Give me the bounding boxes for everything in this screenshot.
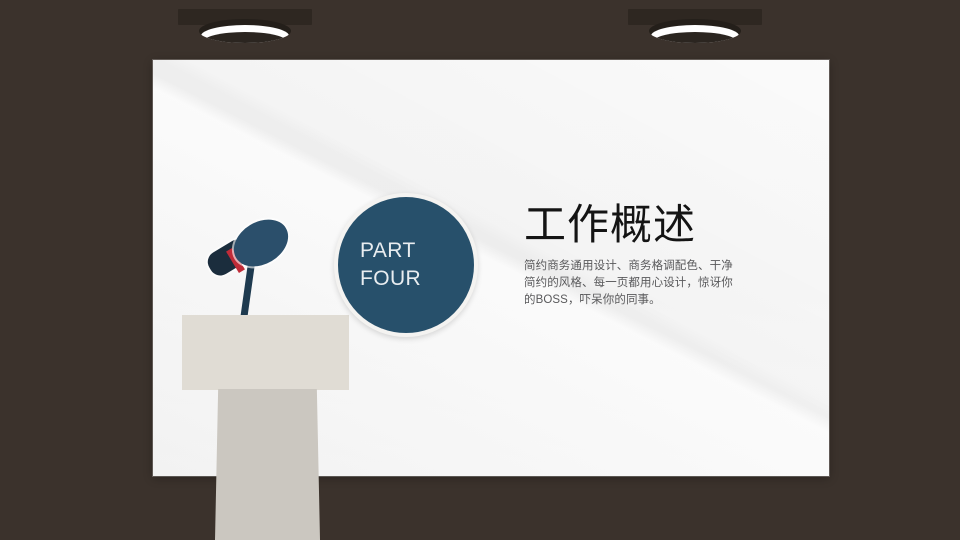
ceiling-light-left — [178, 0, 312, 46]
section-badge-circle: PART FOUR — [334, 193, 478, 337]
ceiling-light-right — [628, 0, 762, 46]
light-shade-icon — [649, 19, 741, 43]
badge-line-two: FOUR — [360, 265, 474, 293]
presentation-slide: PART FOUR 工作概述 简约商务通用设计、商务格调配色、干净简约的风格、每… — [0, 0, 960, 540]
slide-subtitle: 简约商务通用设计、商务格调配色、干净简约的风格、每一页都用心设计，惊讶你的BOS… — [524, 258, 744, 309]
page-title: 工作概述 — [524, 201, 744, 249]
slide-text-block: 工作概述 简约商务通用设计、商务格调配色、干净简约的风格、每一页都用心设计，惊讶… — [524, 201, 744, 309]
light-shade-icon — [199, 19, 291, 43]
badge-line-one: PART — [360, 237, 474, 265]
